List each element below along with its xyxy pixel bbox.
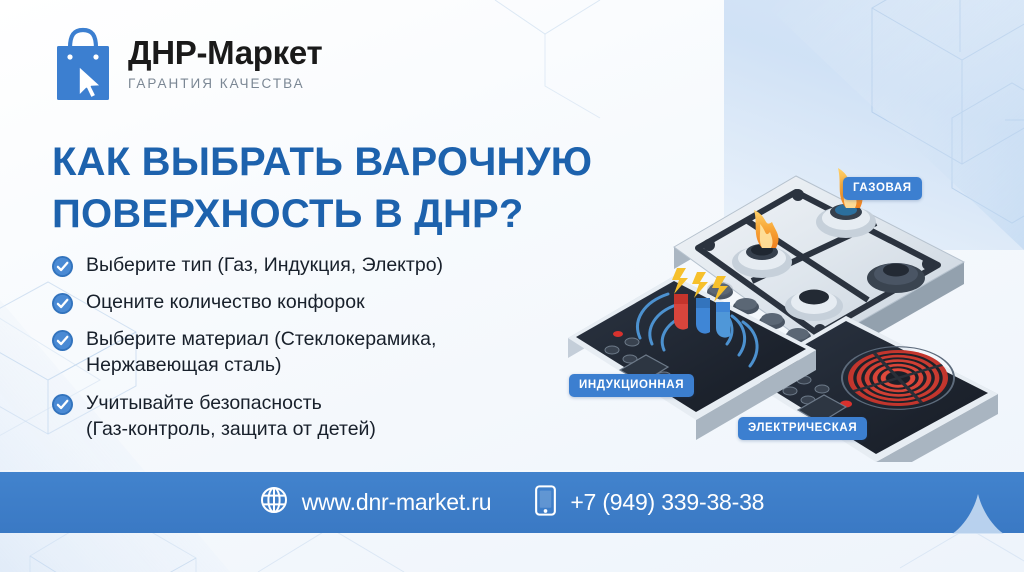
brand-logo[interactable]: ДНР-Маркет ГАРАНТИЯ КАЧЕСТВА	[52, 26, 322, 100]
brand-text: ДНР-Маркет ГАРАНТИЯ КАЧЕСТВА	[128, 34, 322, 92]
list-item-text: Выберите материал (Стеклокерамика, Нержа…	[86, 326, 436, 378]
check-circle-icon	[52, 256, 73, 277]
list-item-line-1: Выберите материал (Стеклокерамика,	[86, 328, 436, 350]
promo-banner: ДНР-Маркет ГАРАНТИЯ КАЧЕСТВА КАК ВЫБРАТЬ…	[0, 0, 1024, 572]
list-item: Выберите материал (Стеклокерамика, Нержа…	[52, 326, 572, 378]
list-item-line-2: Нержавеющая сталь)	[86, 352, 436, 378]
list-item-line-1: Оцените количество конфорок	[86, 291, 365, 313]
list-item: Оцените количество конфорок	[52, 289, 572, 315]
website-link[interactable]: www.dnr-market.ru	[260, 486, 492, 519]
brand-title: ДНР-Маркет	[128, 36, 322, 71]
mobile-phone-icon	[535, 485, 556, 521]
list-item-text: Выберите тип (Газ, Индукция, Электро)	[86, 252, 443, 278]
phone-link[interactable]: +7 (949) 339-38-38	[535, 485, 764, 521]
badge-induction: ИНДУКЦИОННАЯ	[569, 374, 694, 397]
shopping-bag-cursor-icon	[52, 26, 114, 100]
website-text: www.dnr-market.ru	[302, 489, 492, 516]
cooktop-illustration: ГАЗОВАЯ ИНДУКЦИОННАЯ ЭЛЕКТРИЧЕСКАЯ	[546, 152, 1016, 462]
list-item: Выберите тип (Газ, Индукция, Электро)	[52, 252, 572, 278]
list-item-line-2: (Газ-контроль, защита от детей)	[86, 416, 376, 442]
check-circle-icon	[52, 293, 73, 314]
list-item-text: Учитывайте безопасность (Газ-контроль, з…	[86, 390, 376, 442]
check-circle-icon	[52, 330, 73, 351]
list-item-line-1: Учитывайте безопасность	[86, 392, 322, 414]
badge-electric: ЭЛЕКТРИЧЕСКАЯ	[738, 417, 867, 440]
gas-burner	[867, 263, 925, 293]
list-item-text: Оцените количество конфорок	[86, 289, 365, 315]
check-circle-icon	[52, 394, 73, 415]
brand-tagline: ГАРАНТИЯ КАЧЕСТВА	[128, 75, 322, 93]
globe-icon	[260, 486, 288, 519]
badge-gas: ГАЗОВАЯ	[843, 177, 922, 200]
footer-contact-bar: www.dnr-market.ru +7 (949) 339-38-38	[0, 472, 1024, 533]
phone-text: +7 (949) 339-38-38	[570, 489, 764, 516]
list-item: Учитывайте безопасность (Газ-контроль, з…	[52, 390, 572, 442]
benefits-list: Выберите тип (Газ, Индукция, Электро) Оц…	[52, 252, 572, 453]
list-item-line-1: Выберите тип (Газ, Индукция, Электро)	[86, 254, 443, 276]
